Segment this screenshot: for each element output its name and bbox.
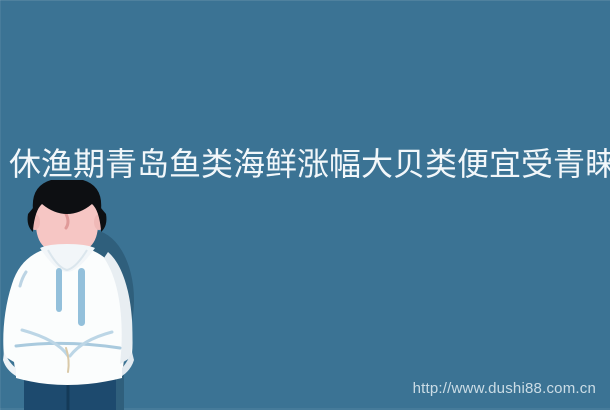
- article-thumbnail-card: 休渔期青岛鱼类海鲜涨幅大贝类便宜受青睐 http://www.dushi88.c…: [0, 0, 610, 410]
- drawstring-right: [78, 268, 85, 326]
- article-headline: 休渔期青岛鱼类海鲜涨幅大贝类便宜受青睐: [9, 144, 610, 184]
- hair-side-left: [28, 208, 33, 232]
- hair-side-right: [101, 208, 106, 232]
- hoodie-person-illustration: [0, 180, 160, 410]
- drawstring-left: [56, 268, 62, 312]
- site-watermark: http://www.dushi88.com.cn: [413, 380, 596, 398]
